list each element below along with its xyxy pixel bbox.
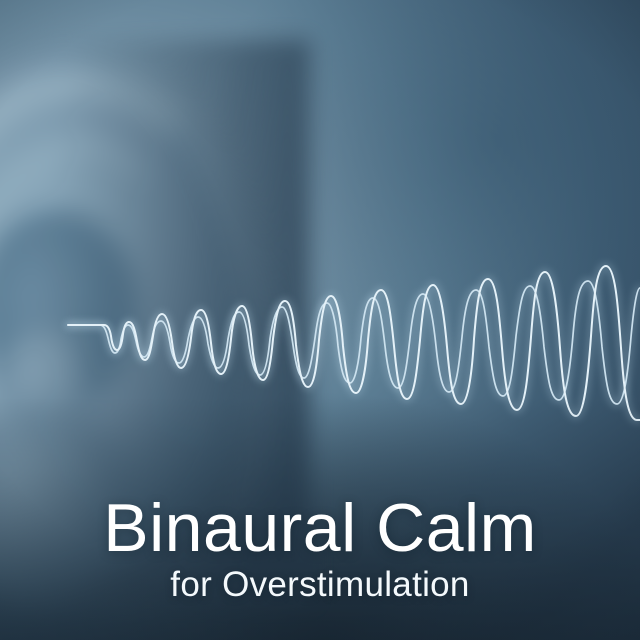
album-title: Binaural Calm (0, 496, 640, 561)
album-cover-canvas: Binaural Calm for Overstimulation (0, 0, 640, 640)
title-block: Binaural Calm for Overstimulation (0, 496, 640, 604)
album-subtitle: for Overstimulation (0, 566, 640, 605)
